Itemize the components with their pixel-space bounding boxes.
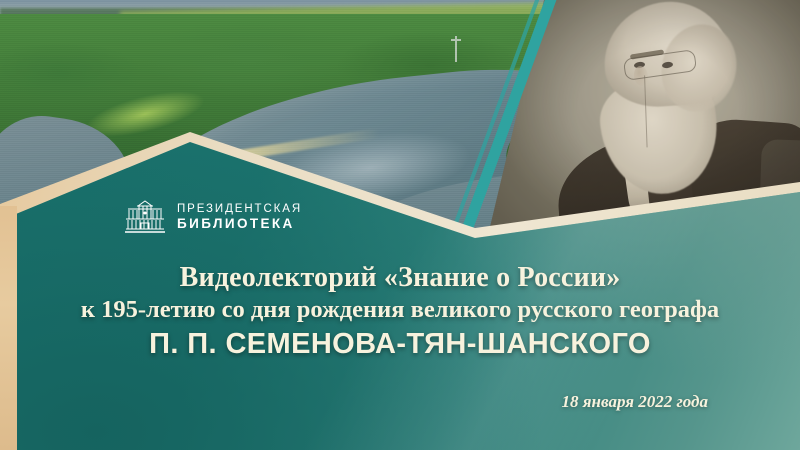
logo-wordmark: ПРЕЗИДЕНТСКАЯ БИБЛИОТЕКА	[177, 203, 302, 231]
event-date: 18 января 2022 года	[562, 392, 708, 412]
title-primary: Видеолекторий «Знание о России»	[0, 262, 800, 293]
logo-line-2: БИБЛИОТЕКА	[177, 216, 302, 231]
title-subtitle: к 195-летию со дня рождения великого рус…	[0, 295, 800, 324]
title-block: Видеолекторий «Знание о России» к 195-ле…	[0, 262, 800, 361]
power-pylon	[455, 36, 457, 62]
presentation-slide: ✷ ПРЕЗИД	[0, 0, 800, 450]
library-building-icon	[122, 200, 168, 234]
logo-line-1: ПРЕЗИДЕНТСКАЯ	[177, 203, 302, 216]
title-person-name: П. П. СЕМЕНОВА-ТЯН-ШАНСКОГО	[0, 328, 800, 361]
presidential-library-logo[interactable]: ПРЕЗИДЕНТСКАЯ БИБЛИОТЕКА	[122, 200, 302, 234]
